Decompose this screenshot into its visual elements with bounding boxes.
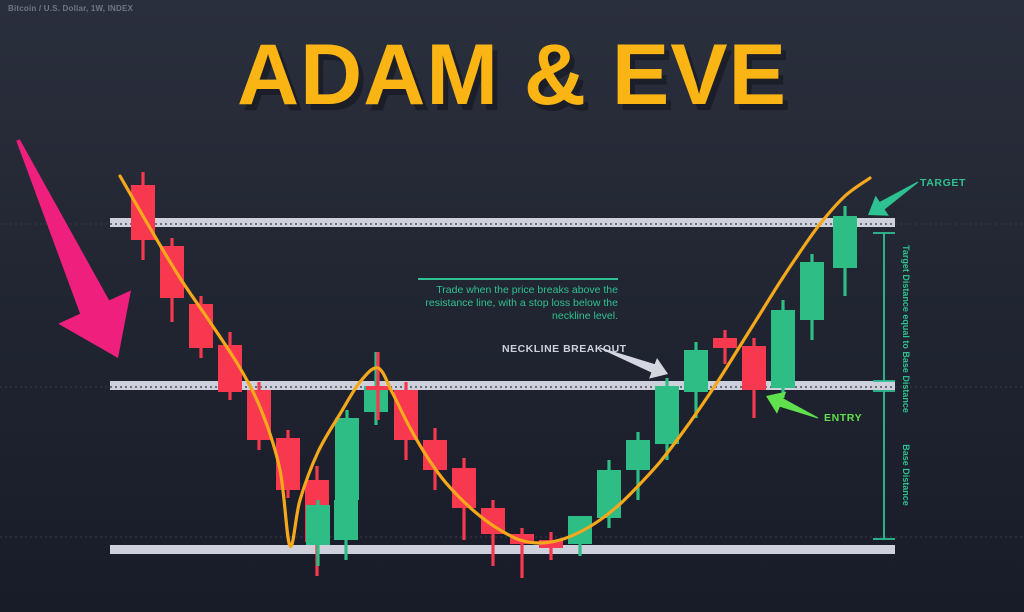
advice-divider-rule: [418, 278, 618, 280]
entry-label: ENTRY: [824, 412, 862, 424]
candlestick-series: [131, 172, 857, 578]
dotted-guide-lines: [0, 224, 1024, 537]
advice-text: Trade when the price breaks above the re…: [418, 284, 618, 323]
neckline-breakout-label: NECKLINE BREAKOUT: [502, 343, 627, 355]
chart-canvas: Bitcoin / U.S. Dollar, 1W, INDEX ADAM & …: [0, 0, 1024, 612]
base-distance-label: Base Distance: [901, 415, 911, 535]
target-label: TARGET: [920, 177, 966, 189]
target-distance-label: Target Distance equal to Base Distance: [901, 245, 911, 365]
